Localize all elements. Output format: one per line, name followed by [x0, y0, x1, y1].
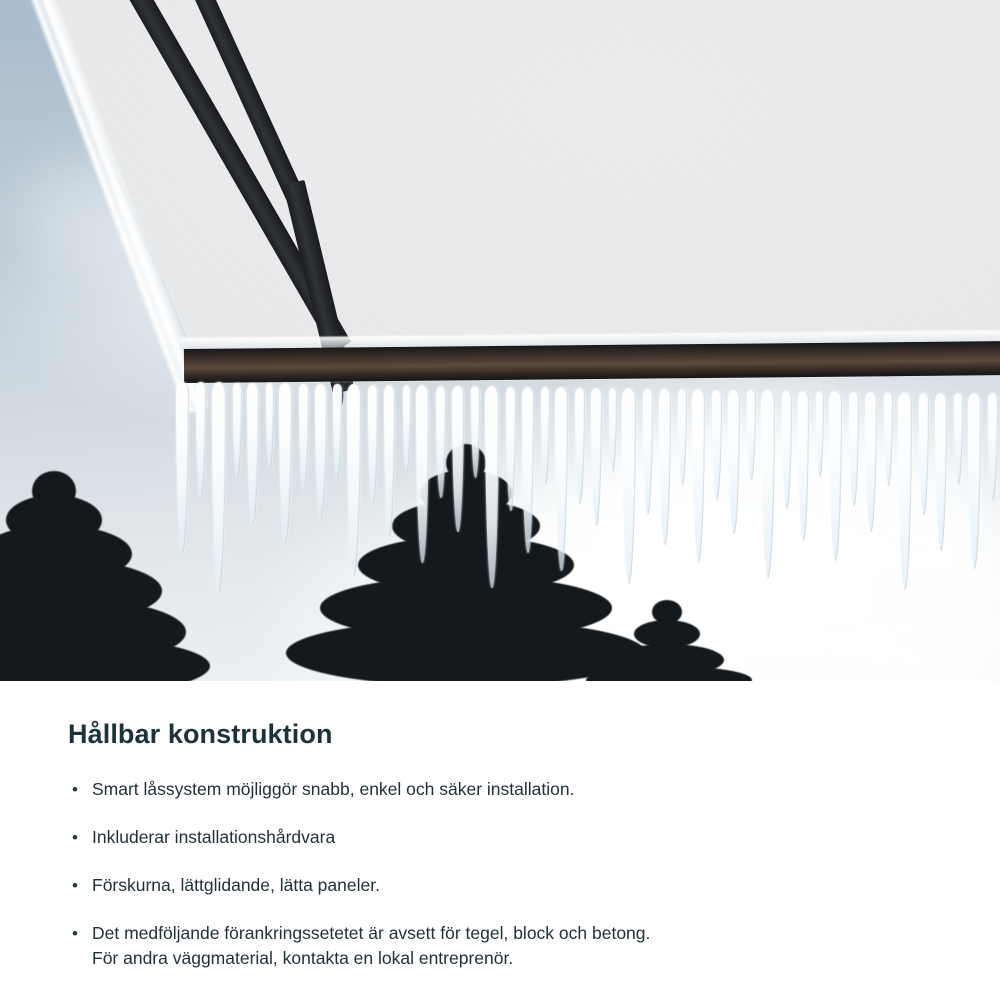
- list-item-label: Inkluderar installationshårdvara: [92, 825, 335, 850]
- icicle: [485, 386, 499, 588]
- icicle: [712, 390, 722, 500]
- icicle: [622, 388, 636, 584]
- icicle: [506, 387, 516, 511]
- icicle: [384, 385, 395, 537]
- content-panel: Hållbar konstruktion • Smart låssystem m…: [0, 681, 1000, 1000]
- icicle: [575, 388, 585, 504]
- icicle: [279, 383, 292, 543]
- icicle: [643, 389, 653, 515]
- icicle: [247, 383, 259, 525]
- icicle: [884, 392, 893, 486]
- icicle: [935, 393, 947, 551]
- list-item: • Det medföljande förankringssetetet är …: [68, 921, 940, 971]
- icicle: [919, 393, 929, 515]
- icicle: [196, 382, 206, 500]
- hero-photo: [0, 0, 1000, 681]
- icicle: [471, 386, 480, 478]
- icicle: [333, 384, 342, 478]
- icicle: [609, 388, 617, 472]
- icicle: [988, 393, 998, 501]
- icicle: [692, 389, 705, 563]
- icicle: [728, 390, 740, 534]
- icicle: [798, 391, 809, 541]
- icicle: [212, 382, 226, 594]
- list-item: • Inkluderar installationshårdvara: [68, 825, 940, 850]
- icicle: [898, 392, 912, 590]
- icicle: [678, 389, 687, 485]
- feature-list: • Smart låssystem möjliggör snabb, enkel…: [68, 777, 940, 971]
- icicle: [968, 393, 981, 569]
- icicle-row: [0, 0, 1000, 681]
- icicle: [659, 389, 671, 545]
- icicle: [816, 391, 824, 477]
- icicle: [416, 385, 429, 563]
- icicle: [176, 382, 189, 554]
- icicle: [266, 383, 274, 469]
- icicle: [849, 392, 859, 506]
- icicle: [299, 384, 309, 492]
- bullet-icon: •: [68, 825, 92, 850]
- list-item-label: Det medföljande förankringssetetet är av…: [92, 921, 650, 971]
- icicle: [591, 388, 602, 526]
- icicle: [436, 386, 446, 498]
- list-item: • Smart låssystem möjliggör snabb, enkel…: [68, 777, 940, 802]
- list-item: • Förskurna, lättglidande, lätta paneler…: [68, 873, 940, 898]
- icicle: [555, 387, 568, 571]
- icicle: [522, 387, 534, 553]
- icicle: [347, 384, 361, 576]
- page-title: Hållbar konstruktion: [68, 719, 940, 750]
- icicle: [315, 384, 327, 518]
- icicle: [233, 383, 242, 479]
- icicle: [747, 390, 756, 480]
- bullet-icon: •: [68, 777, 92, 802]
- icicle: [954, 393, 963, 485]
- bullet-icon: •: [68, 921, 92, 946]
- bullet-icon: •: [68, 873, 92, 898]
- feature-card: Hållbar konstruktion • Smart låssystem m…: [0, 0, 1000, 1000]
- icicle: [368, 385, 378, 505]
- icicle: [403, 385, 411, 473]
- icicle: [452, 386, 464, 532]
- list-item-label: Förskurna, lättglidande, lätta paneler.: [92, 873, 380, 898]
- list-item-label: Smart låssystem möjliggör snabb, enkel o…: [92, 777, 574, 802]
- icicle: [761, 390, 775, 578]
- icicle: [829, 391, 842, 561]
- icicle: [541, 387, 550, 485]
- icicle: [865, 392, 877, 532]
- icicle: [782, 391, 792, 509]
